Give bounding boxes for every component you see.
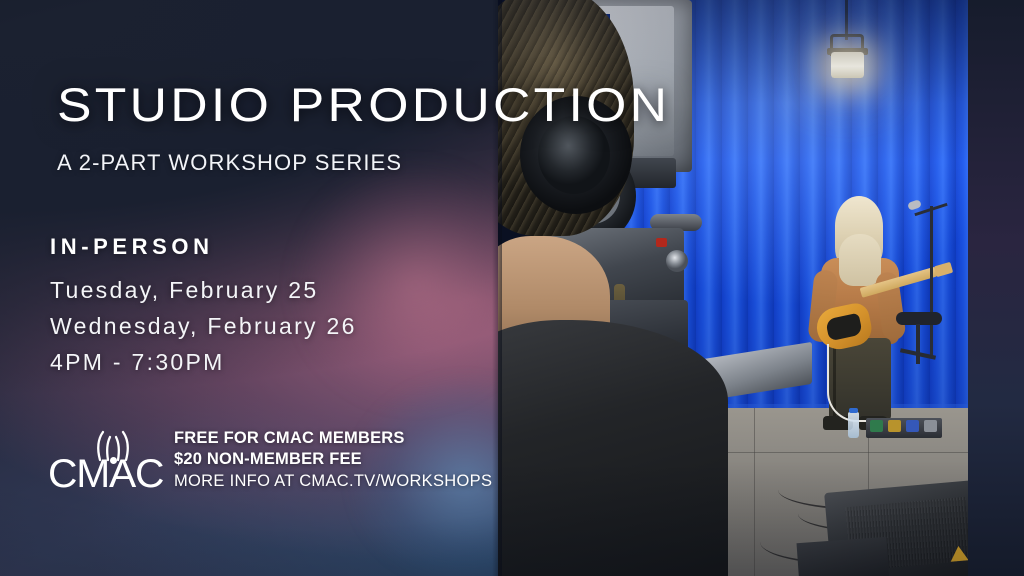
time-line: 4PM - 7:30PM [50, 344, 357, 380]
fineprint-block: FREE FOR CMAC MEMBERS $20 NON-MEMBER FEE… [174, 428, 492, 492]
effects-pedal [888, 420, 901, 432]
right-edge-band [968, 0, 1024, 576]
floor-seam [754, 408, 755, 576]
effects-pedal [870, 420, 883, 432]
guitarist-hair-front [839, 234, 881, 286]
amp-logo-triangle [949, 545, 968, 562]
stool-leg [916, 324, 920, 364]
camera-tally-light [656, 238, 667, 247]
date-line: Tuesday, February 25 [50, 272, 357, 308]
fineprint-line-3: MORE INFO AT CMAC.TV/WORKSHOPS [174, 470, 492, 492]
date-line: Wednesday, February 26 [50, 308, 357, 344]
page-title: STUDIO PRODUCTION [57, 77, 670, 132]
fineprint-line-1: FREE FOR CMAC MEMBERS [174, 428, 492, 449]
page-subtitle: A 2-PART WORKSHOP SERIES [57, 150, 402, 176]
format-heading: IN-PERSON [50, 234, 214, 260]
water-bottle [848, 412, 859, 438]
cmac-logo: CMAC [48, 430, 166, 496]
camera-control-knob [666, 250, 688, 272]
effects-pedal [906, 420, 919, 432]
microphone-stand [930, 206, 933, 356]
hanging-studio-light [831, 52, 864, 78]
secondary-amp [797, 537, 890, 576]
logo-wordmark: CMAC [48, 454, 163, 494]
fineprint-line-2: $20 NON-MEMBER FEE [174, 449, 492, 470]
operator-shirt [498, 320, 728, 576]
guitar-cable [827, 344, 867, 422]
date-list: Tuesday, February 25 Wednesday, February… [50, 272, 357, 380]
bottle-cap [849, 408, 858, 413]
effects-pedal [924, 420, 937, 432]
promo-poster: STUDIO PRODUCTION A 2-PART WORKSHOP SERI… [0, 0, 1024, 576]
